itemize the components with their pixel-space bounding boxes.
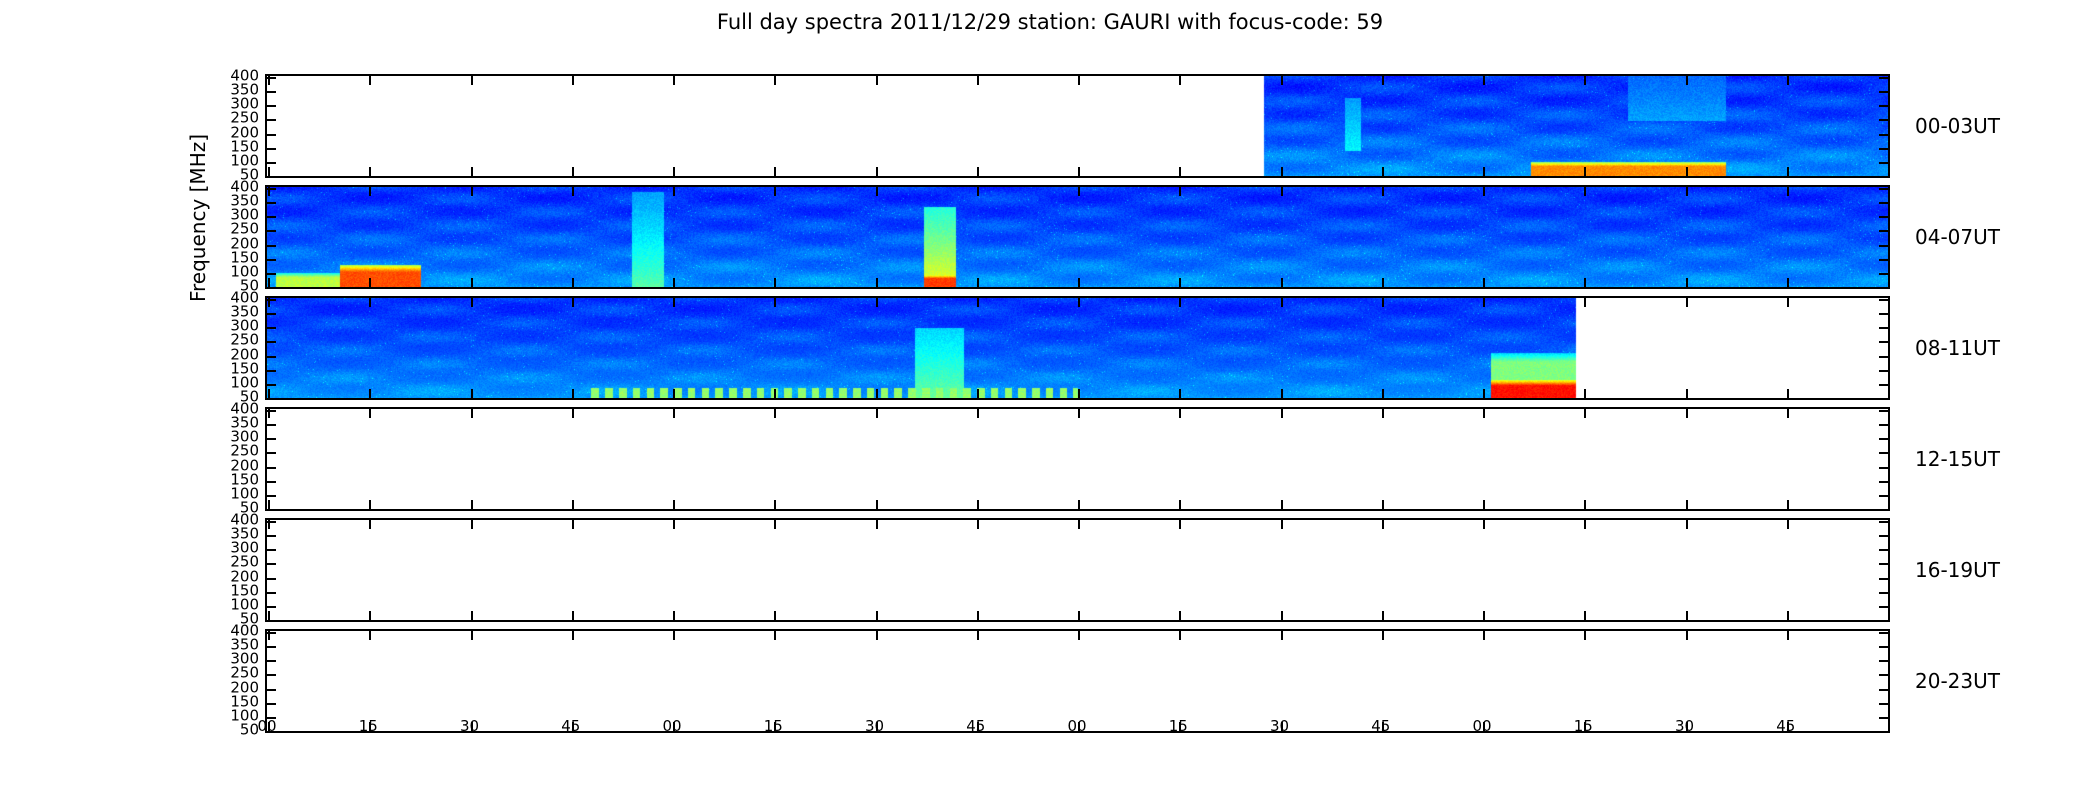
y-tick-mark <box>267 563 276 565</box>
x-tick-mark <box>1382 167 1384 176</box>
x-tick-mark <box>1584 298 1586 307</box>
x-tick-label: 00 <box>1472 717 1491 735</box>
x-tick-mark <box>268 631 270 640</box>
x-tick-mark <box>471 167 473 176</box>
x-tick-mark <box>1483 76 1485 85</box>
x-tick-label: 15 <box>764 717 783 735</box>
y-tick-mark <box>1879 660 1888 662</box>
spectrogram-image <box>267 298 1888 398</box>
x-tick-mark <box>369 187 371 196</box>
x-tick-mark <box>876 76 878 85</box>
x-tick-mark <box>1483 500 1485 509</box>
x-tick-mark <box>471 409 473 418</box>
y-tick-mark <box>1879 467 1888 469</box>
x-tick-mark <box>268 167 270 176</box>
y-tick-mark <box>267 578 276 580</box>
x-tick-mark <box>1078 278 1080 287</box>
y-tick-mark <box>1879 578 1888 580</box>
x-tick-mark <box>1686 167 1688 176</box>
x-tick-mark <box>1281 76 1283 85</box>
y-tick-mark <box>267 467 276 469</box>
x-tick-label: 15 <box>1169 717 1188 735</box>
x-tick-mark <box>268 389 270 398</box>
x-tick-mark <box>876 631 878 640</box>
x-tick-mark <box>1787 278 1789 287</box>
spectrogram-image <box>267 409 1888 509</box>
y-tick-mark <box>267 202 276 204</box>
x-tick-mark <box>673 187 675 196</box>
x-tick-mark <box>774 389 776 398</box>
x-tick-mark <box>369 611 371 620</box>
y-tick-mark <box>1879 370 1888 372</box>
x-tick-mark <box>1281 298 1283 307</box>
x-tick-mark <box>1686 389 1688 398</box>
y-tick-mark <box>267 119 276 121</box>
spectrogram-image <box>267 76 1888 176</box>
y-tick-mark <box>1879 481 1888 483</box>
y-tick-mark <box>1879 119 1888 121</box>
y-tick-mark <box>1879 731 1888 733</box>
y-tick-mark <box>1879 438 1888 440</box>
y-tick-label-group: 40035030025020015010050 <box>199 296 259 400</box>
y-tick-mark <box>267 592 276 594</box>
x-tick-label: 30 <box>1270 717 1289 735</box>
x-tick-mark <box>1584 520 1586 529</box>
x-tick-mark <box>572 389 574 398</box>
x-tick-mark <box>1179 611 1181 620</box>
x-tick-mark <box>1179 167 1181 176</box>
x-tick-mark <box>1483 187 1485 196</box>
x-tick-mark <box>369 409 371 418</box>
y-tick-mark <box>267 105 276 107</box>
y-tick-mark <box>267 356 276 358</box>
y-tick-mark <box>267 176 276 178</box>
y-tick-mark <box>1879 299 1888 301</box>
x-tick-mark <box>369 389 371 398</box>
y-tick-mark <box>1879 356 1888 358</box>
x-tick-mark <box>1179 187 1181 196</box>
x-tick-mark <box>876 298 878 307</box>
x-tick-mark <box>1686 278 1688 287</box>
x-tick-mark <box>1078 187 1080 196</box>
y-tick-mark <box>1879 148 1888 150</box>
x-tick-mark <box>471 500 473 509</box>
y-tick-mark <box>267 438 276 440</box>
y-tick-mark <box>1879 689 1888 691</box>
x-tick-mark <box>1787 76 1789 85</box>
x-tick-mark <box>1382 409 1384 418</box>
x-tick-mark <box>369 500 371 509</box>
x-tick-mark <box>673 409 675 418</box>
y-tick-label-group: 40035030025020015010050 <box>199 407 259 511</box>
x-tick-mark <box>1686 500 1688 509</box>
x-tick-mark <box>774 631 776 640</box>
y-tick-mark <box>1879 424 1888 426</box>
x-tick-mark <box>1686 409 1688 418</box>
x-tick-mark <box>1179 298 1181 307</box>
y-tick-mark <box>267 495 276 497</box>
y-tick-mark <box>267 509 276 511</box>
y-tick-mark <box>267 273 276 275</box>
y-tick-mark <box>267 341 276 343</box>
x-tick-label: 45 <box>966 717 985 735</box>
y-tick-mark <box>267 148 276 150</box>
x-tick-mark <box>369 520 371 529</box>
x-tick-mark <box>1584 611 1586 620</box>
y-tick-mark <box>1879 230 1888 232</box>
y-tick-mark <box>1879 162 1888 164</box>
y-tick-label: 50 <box>240 723 259 738</box>
x-tick-mark <box>1078 631 1080 640</box>
panel-frame <box>265 407 1890 511</box>
x-tick-mark <box>369 167 371 176</box>
y-tick-mark <box>1879 327 1888 329</box>
x-tick-mark <box>1078 611 1080 620</box>
y-tick-mark <box>267 134 276 136</box>
y-tick-label-group: 40035030025020015010050 <box>199 629 259 733</box>
x-tick-mark <box>1382 611 1384 620</box>
x-tick-mark <box>1078 76 1080 85</box>
y-tick-mark <box>1879 259 1888 261</box>
x-tick-mark <box>977 187 979 196</box>
x-tick-mark <box>1483 389 1485 398</box>
x-tick-mark <box>1787 187 1789 196</box>
x-tick-mark <box>1078 167 1080 176</box>
x-tick-mark <box>977 409 979 418</box>
x-tick-mark <box>369 298 371 307</box>
x-tick-label: 45 <box>1371 717 1390 735</box>
y-tick-mark <box>267 91 276 93</box>
y-tick-mark <box>267 287 276 289</box>
y-tick-mark <box>1879 452 1888 454</box>
x-tick-mark <box>1179 409 1181 418</box>
x-tick-mark <box>876 167 878 176</box>
spectrogram-panel-12-15ut <box>265 407 1890 511</box>
x-tick-mark <box>876 389 878 398</box>
y-tick-mark <box>267 549 276 551</box>
x-tick-mark <box>1686 298 1688 307</box>
x-tick-mark <box>572 278 574 287</box>
x-tick-mark <box>369 631 371 640</box>
y-tick-label-group: 40035030025020015010050 <box>199 518 259 622</box>
x-tick-mark <box>1584 409 1586 418</box>
x-tick-mark <box>774 298 776 307</box>
y-tick-mark <box>1879 521 1888 523</box>
x-tick-mark <box>977 167 979 176</box>
y-tick-mark <box>267 162 276 164</box>
y-tick-mark <box>1879 273 1888 275</box>
y-tick-mark <box>267 703 276 705</box>
x-tick-mark <box>876 520 878 529</box>
x-tick-mark <box>1787 167 1789 176</box>
x-tick-mark <box>1382 389 1384 398</box>
y-tick-mark <box>1879 384 1888 386</box>
y-tick-mark <box>1879 245 1888 247</box>
x-tick-mark <box>268 278 270 287</box>
x-tick-label: 00 <box>1067 717 1086 735</box>
y-tick-mark <box>1879 216 1888 218</box>
x-tick-mark <box>1584 500 1586 509</box>
x-tick-mark <box>673 76 675 85</box>
x-tick-mark <box>1382 520 1384 529</box>
x-tick-mark <box>1787 409 1789 418</box>
x-tick-mark <box>1787 298 1789 307</box>
x-tick-mark <box>876 611 878 620</box>
row-label-04-07ut: 04-07UT <box>1915 225 2000 249</box>
x-tick-mark <box>572 520 574 529</box>
x-tick-mark <box>1179 631 1181 640</box>
y-tick-mark <box>267 216 276 218</box>
y-tick-mark <box>267 620 276 622</box>
x-tick-mark <box>977 389 979 398</box>
x-tick-mark <box>1281 409 1283 418</box>
panel-frame <box>265 518 1890 622</box>
row-label-00-03ut: 00-03UT <box>1915 114 2000 138</box>
x-tick-label: 30 <box>1675 717 1694 735</box>
x-tick-mark <box>1483 167 1485 176</box>
x-tick-mark <box>1382 76 1384 85</box>
x-tick-mark <box>673 389 675 398</box>
x-tick-mark <box>572 500 574 509</box>
y-tick-mark <box>1879 717 1888 719</box>
x-tick-mark <box>774 500 776 509</box>
x-tick-mark <box>1483 278 1485 287</box>
y-tick-mark <box>1879 410 1888 412</box>
x-tick-mark <box>268 520 270 529</box>
x-tick-mark <box>1584 167 1586 176</box>
y-tick-mark <box>1879 188 1888 190</box>
x-tick-mark <box>876 500 878 509</box>
x-tick-mark <box>471 611 473 620</box>
x-tick-mark <box>1787 500 1789 509</box>
x-tick-mark <box>1787 631 1789 640</box>
x-tick-mark <box>977 278 979 287</box>
x-tick-mark <box>876 187 878 196</box>
spectrogram-image <box>267 631 1888 731</box>
x-tick-mark <box>774 278 776 287</box>
x-tick-mark <box>876 409 878 418</box>
x-tick-mark <box>1078 298 1080 307</box>
row-label-08-11ut: 08-11UT <box>1915 336 2000 360</box>
x-tick-mark <box>471 631 473 640</box>
x-tick-mark <box>1281 500 1283 509</box>
x-tick-mark <box>673 611 675 620</box>
spectrogram-panel-08-11ut <box>265 296 1890 400</box>
y-tick-mark <box>267 646 276 648</box>
x-tick-mark <box>268 187 270 196</box>
y-tick-mark <box>1879 134 1888 136</box>
x-tick-mark <box>1179 76 1181 85</box>
x-tick-mark <box>268 298 270 307</box>
x-tick-mark <box>1584 278 1586 287</box>
spectrogram-panel-04-07ut <box>265 185 1890 289</box>
x-tick-mark <box>673 278 675 287</box>
x-tick-mark <box>673 500 675 509</box>
x-tick-mark <box>1382 631 1384 640</box>
y-tick-mark <box>267 245 276 247</box>
x-tick-mark <box>268 500 270 509</box>
x-tick-mark <box>369 76 371 85</box>
x-tick-mark <box>774 520 776 529</box>
panel-frame <box>265 74 1890 178</box>
x-tick-mark <box>471 76 473 85</box>
x-tick-mark <box>572 76 574 85</box>
x-tick-mark <box>1179 278 1181 287</box>
x-tick-mark <box>1179 389 1181 398</box>
x-tick-mark <box>1686 520 1688 529</box>
y-tick-mark <box>267 398 276 400</box>
y-tick-mark <box>1879 606 1888 608</box>
y-tick-mark <box>267 313 276 315</box>
x-tick-mark <box>1281 389 1283 398</box>
x-tick-mark <box>1787 520 1789 529</box>
y-tick-mark <box>267 230 276 232</box>
figure-title: Full day spectra 2011/12/29 station: GAU… <box>0 10 2100 34</box>
y-tick-mark <box>267 660 276 662</box>
x-tick-mark <box>1382 500 1384 509</box>
x-tick-label: 30 <box>865 717 884 735</box>
x-tick-mark <box>1281 631 1283 640</box>
panel-frame <box>265 185 1890 289</box>
x-tick-mark <box>876 278 878 287</box>
x-tick-mark <box>268 611 270 620</box>
spectrogram-panel-16-19ut <box>265 518 1890 622</box>
y-tick-mark <box>1879 620 1888 622</box>
panel-frame <box>265 296 1890 400</box>
x-tick-mark <box>774 167 776 176</box>
spectrogram-figure: Full day spectra 2011/12/29 station: GAU… <box>0 0 2100 800</box>
x-tick-mark <box>1078 409 1080 418</box>
x-tick-mark <box>1686 187 1688 196</box>
y-tick-mark <box>267 606 276 608</box>
y-tick-mark <box>267 327 276 329</box>
y-tick-mark <box>267 384 276 386</box>
x-tick-mark <box>977 611 979 620</box>
y-tick-mark <box>1879 495 1888 497</box>
x-tick-mark <box>1584 631 1586 640</box>
x-tick-label: 15 <box>359 717 378 735</box>
x-tick-mark <box>673 298 675 307</box>
x-tick-mark <box>572 298 574 307</box>
y-tick-mark <box>267 259 276 261</box>
x-tick-mark <box>1281 520 1283 529</box>
y-tick-mark <box>1879 674 1888 676</box>
x-tick-mark <box>572 611 574 620</box>
y-tick-mark <box>1879 105 1888 107</box>
x-tick-mark <box>1382 278 1384 287</box>
x-tick-mark <box>1483 631 1485 640</box>
row-label-16-19ut: 16-19UT <box>1915 558 2000 582</box>
x-tick-mark <box>1483 611 1485 620</box>
y-tick-mark <box>1879 563 1888 565</box>
y-tick-mark <box>1879 287 1888 289</box>
y-tick-mark <box>1879 91 1888 93</box>
x-tick-mark <box>1686 76 1688 85</box>
x-tick-mark <box>471 389 473 398</box>
x-tick-mark <box>471 278 473 287</box>
x-tick-mark <box>774 611 776 620</box>
x-tick-mark <box>1179 500 1181 509</box>
x-tick-mark <box>1281 278 1283 287</box>
y-tick-mark <box>1879 77 1888 79</box>
y-tick-mark <box>267 370 276 372</box>
x-tick-label: 15 <box>1574 717 1593 735</box>
x-tick-mark <box>977 520 979 529</box>
x-tick-label: 00 <box>662 717 681 735</box>
y-tick-mark <box>1879 341 1888 343</box>
y-tick-mark <box>1879 202 1888 204</box>
x-tick-mark <box>1787 389 1789 398</box>
x-tick-mark <box>1281 187 1283 196</box>
x-tick-mark <box>1382 298 1384 307</box>
x-tick-mark <box>471 298 473 307</box>
x-tick-mark <box>268 76 270 85</box>
y-tick-mark <box>1879 509 1888 511</box>
spectrogram-panel-00-03ut <box>265 74 1890 178</box>
y-tick-mark <box>267 535 276 537</box>
x-tick-mark <box>1483 520 1485 529</box>
x-tick-mark <box>471 187 473 196</box>
x-tick-mark <box>1078 520 1080 529</box>
x-tick-mark <box>1078 500 1080 509</box>
x-tick-mark <box>977 631 979 640</box>
x-tick-mark <box>1078 389 1080 398</box>
y-tick-mark <box>1879 632 1888 634</box>
x-tick-mark <box>673 167 675 176</box>
row-label-12-15ut: 12-15UT <box>1915 447 2000 471</box>
x-tick-mark <box>1584 187 1586 196</box>
spectrogram-image <box>267 520 1888 620</box>
y-tick-mark <box>1879 535 1888 537</box>
x-tick-mark <box>572 167 574 176</box>
x-tick-mark <box>1281 167 1283 176</box>
y-tick-label-group: 40035030025020015010050 <box>199 74 259 178</box>
x-tick-mark <box>977 76 979 85</box>
x-tick-mark <box>572 631 574 640</box>
x-tick-mark <box>471 520 473 529</box>
y-tick-mark <box>267 424 276 426</box>
y-tick-mark <box>1879 398 1888 400</box>
x-tick-mark <box>268 409 270 418</box>
x-tick-mark <box>572 409 574 418</box>
y-tick-mark <box>1879 646 1888 648</box>
y-tick-mark <box>1879 176 1888 178</box>
y-tick-mark <box>267 689 276 691</box>
y-tick-mark <box>267 674 276 676</box>
x-tick-mark <box>1584 389 1586 398</box>
x-tick-mark <box>774 76 776 85</box>
x-tick-label: 45 <box>561 717 580 735</box>
x-tick-mark <box>673 631 675 640</box>
x-tick-mark <box>774 409 776 418</box>
y-tick-mark <box>267 452 276 454</box>
y-tick-mark <box>1879 592 1888 594</box>
x-tick-mark <box>1483 409 1485 418</box>
x-tick-mark <box>1584 76 1586 85</box>
x-tick-mark <box>1686 631 1688 640</box>
x-tick-mark <box>1179 520 1181 529</box>
y-tick-mark <box>267 481 276 483</box>
x-tick-mark <box>977 298 979 307</box>
y-tick-label-group: 40035030025020015010050 <box>199 185 259 289</box>
y-tick-mark <box>1879 703 1888 705</box>
x-tick-mark <box>673 520 675 529</box>
x-tick-mark <box>572 187 574 196</box>
x-tick-mark <box>977 500 979 509</box>
x-tick-mark <box>1382 187 1384 196</box>
x-tick-mark <box>1281 611 1283 620</box>
x-tick-mark <box>1483 298 1485 307</box>
